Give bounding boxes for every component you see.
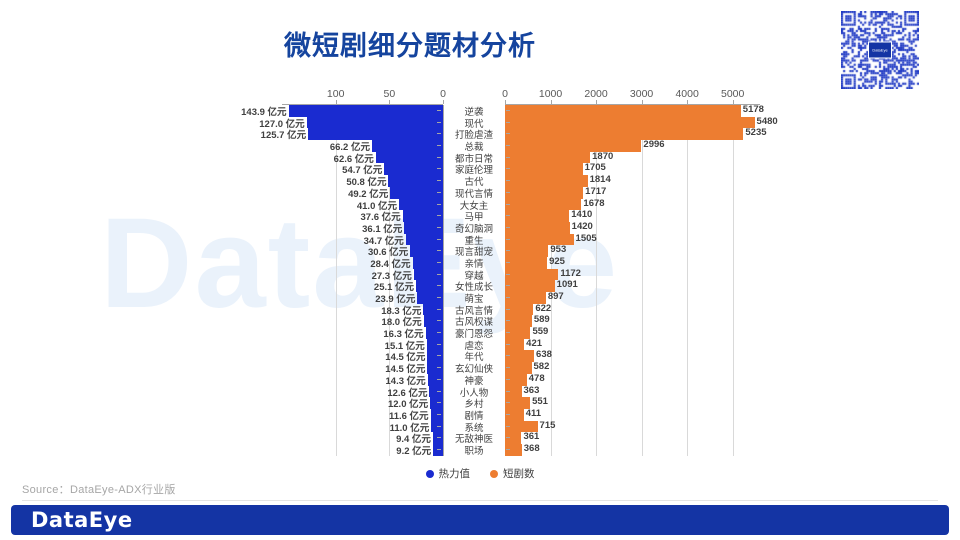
axis-tickmark (505, 100, 506, 104)
category-tick (506, 449, 510, 450)
category-tick (506, 437, 510, 438)
category-tick (437, 379, 441, 380)
bar-count-value: 1870 (592, 151, 613, 162)
bar-count-value: 1717 (585, 186, 606, 197)
axis-tickmark (596, 100, 597, 104)
category-tick (506, 157, 510, 158)
bar-heat[interactable] (376, 152, 443, 164)
bar-count-value: 582 (534, 361, 550, 372)
bar-count-value: 5178 (743, 104, 764, 115)
axis-tickmark (687, 100, 688, 104)
bar-count-value: 5235 (745, 127, 766, 138)
bar-count-value: 1420 (572, 221, 593, 232)
category-tick (506, 285, 510, 286)
category-tick (437, 180, 441, 181)
axis-tickmark (642, 100, 643, 104)
category-tick (437, 297, 441, 298)
category-tick (506, 239, 510, 240)
legend-dot-icon (426, 470, 434, 478)
category-tick (437, 320, 441, 321)
bar-count[interactable] (505, 163, 583, 175)
bar-count-value: 1678 (583, 198, 604, 209)
axis-tickmark (733, 100, 734, 104)
source-note: Source：DataEye-ADX行业版 (22, 481, 176, 497)
bar-count-value: 368 (524, 443, 540, 454)
legend-dot-icon (490, 470, 498, 478)
bar-count-value: 715 (540, 420, 556, 431)
bar-count-value: 1410 (571, 209, 592, 220)
chart-axes: 100500010002000300040005000 (0, 88, 960, 104)
category-tick (437, 274, 441, 275)
category-tick (437, 344, 441, 345)
divider (22, 500, 938, 501)
category-tick (437, 449, 441, 450)
category-tick (506, 145, 510, 146)
category-tick (437, 239, 441, 240)
bar-count-value: 1814 (590, 174, 611, 185)
category-tick (437, 437, 441, 438)
bar-count-value: 363 (524, 385, 540, 396)
bar-count-value: 411 (526, 408, 541, 419)
chart-row: 9.2 亿元368职场 (0, 444, 960, 456)
bar-count[interactable] (505, 257, 547, 269)
right-axis-tick-3000: 3000 (630, 88, 653, 100)
tornado-chart: 100500010002000300040005000 143.9 亿元5178… (0, 88, 960, 463)
left-axis-tick-0: 0 (440, 88, 446, 100)
footer-bar: DataEye (11, 505, 949, 535)
bar-heat[interactable] (307, 117, 443, 129)
category-tick (506, 262, 510, 263)
category-tick (437, 157, 441, 158)
page-title: 微短剧细分题材分析 (0, 24, 820, 63)
qr-code-image: DataEye (841, 11, 919, 89)
bar-count-value: 1705 (585, 162, 606, 173)
bar-count[interactable] (505, 269, 558, 281)
category-tick (437, 355, 441, 356)
bar-count-value: 925 (549, 256, 565, 267)
legend-count[interactable]: 短剧数 (490, 466, 535, 481)
bar-count[interactable] (505, 128, 743, 140)
category-tick (437, 110, 441, 111)
category-tick (437, 192, 441, 193)
bar-count[interactable] (505, 105, 741, 117)
category-tick (437, 145, 441, 146)
bar-count[interactable] (505, 117, 755, 129)
right-axis-tick-5000: 5000 (721, 88, 744, 100)
category-tick (437, 285, 441, 286)
bar-heat[interactable] (289, 105, 443, 117)
category-tick (437, 367, 441, 368)
category-tick (506, 133, 510, 134)
category-tick (506, 168, 510, 169)
bar-count[interactable] (505, 199, 581, 211)
bar-count[interactable] (505, 245, 548, 257)
legend-label: 热力值 (439, 466, 471, 481)
bar-count-value: 638 (536, 349, 552, 360)
qr-center-logo: DataEye (868, 42, 892, 59)
left-axis-tick-100: 100 (327, 88, 345, 100)
category-tick (506, 110, 510, 111)
category-tick (437, 227, 441, 228)
axis-tickmark (336, 100, 337, 104)
bar-count[interactable] (505, 152, 590, 164)
bar-count-value: 1091 (557, 279, 578, 290)
bar-count-value: 953 (550, 244, 566, 255)
category-tick (506, 215, 510, 216)
dataeye-logo: DataEye (31, 508, 133, 532)
category-tick (506, 367, 510, 368)
bar-count-value: 2996 (643, 139, 664, 150)
category-tick (506, 204, 510, 205)
category-tick (506, 391, 510, 392)
bar-heat[interactable] (372, 140, 443, 152)
category-tick (506, 332, 510, 333)
chart-legend: 热力值短剧数 (0, 466, 960, 481)
category-tick (506, 309, 510, 310)
bar-count-value: 478 (529, 373, 545, 384)
category-tick (506, 297, 510, 298)
left-axis-tick-50: 50 (383, 88, 395, 100)
category-tick (506, 274, 510, 275)
bar-count[interactable] (505, 140, 641, 152)
bar-count-value: 897 (548, 291, 564, 302)
right-axis-tick-0: 0 (502, 88, 508, 100)
category-tick (437, 402, 441, 403)
category-label: 职场 (443, 443, 505, 457)
right-axis-tick-4000: 4000 (675, 88, 698, 100)
bar-count[interactable] (505, 187, 583, 199)
category-tick (437, 262, 441, 263)
bar-count-value: 589 (534, 314, 550, 325)
category-tick (437, 168, 441, 169)
category-tick (506, 355, 510, 356)
category-tick (437, 133, 441, 134)
category-tick (506, 180, 510, 181)
category-tick (437, 204, 441, 205)
axis-tickmark (551, 100, 552, 104)
category-tick (437, 215, 441, 216)
bar-count-value: 5480 (757, 116, 778, 127)
legend-heat[interactable]: 热力值 (426, 466, 471, 481)
category-tick (437, 414, 441, 415)
bar-heat-value: 9.2 亿元 (396, 443, 431, 457)
category-tick (506, 227, 510, 228)
category-tick (437, 391, 441, 392)
bar-count[interactable] (505, 175, 588, 187)
category-tick (506, 426, 510, 427)
category-tick (437, 309, 441, 310)
bar-heat[interactable] (390, 187, 443, 199)
chart-rows: 143.9 亿元5178逆袭127.0 亿元5480现代125.7 亿元5235… (0, 105, 960, 456)
category-tick (437, 250, 441, 251)
legend-label: 短剧数 (503, 466, 535, 481)
category-tick (506, 402, 510, 403)
category-tick (506, 320, 510, 321)
bar-count-value: 1505 (576, 233, 597, 244)
category-tick (506, 192, 510, 193)
category-tick (437, 122, 441, 123)
bar-heat[interactable] (384, 163, 443, 175)
bar-count-value: 421 (526, 338, 542, 349)
category-tick (437, 426, 441, 427)
bar-count-value: 622 (535, 303, 551, 314)
category-tick (506, 122, 510, 123)
axis-tickmark (389, 100, 390, 104)
category-tick (506, 379, 510, 380)
qr-code[interactable]: DataEye (833, 10, 927, 90)
bar-count[interactable] (505, 210, 569, 222)
right-axis-tick-1000: 1000 (539, 88, 562, 100)
bar-count-value: 361 (523, 431, 539, 442)
right-axis-tick-2000: 2000 (584, 88, 607, 100)
category-tick (506, 250, 510, 251)
bar-heat[interactable] (308, 128, 443, 140)
category-tick (437, 332, 441, 333)
bar-count-value: 559 (532, 326, 548, 337)
bar-count[interactable] (505, 222, 570, 234)
category-tick (506, 344, 510, 345)
bar-heat[interactable] (388, 175, 443, 187)
category-tick (506, 414, 510, 415)
bar-count-value: 1172 (560, 268, 581, 279)
bar-count-value: 551 (532, 396, 548, 407)
